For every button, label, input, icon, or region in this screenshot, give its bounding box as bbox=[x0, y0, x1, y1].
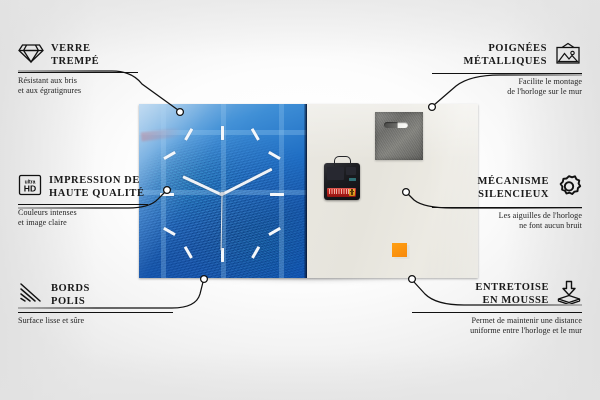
foam-spacer-arrow-icon bbox=[556, 280, 582, 309]
hour-mark bbox=[160, 193, 174, 196]
battery-plus-terminal bbox=[349, 189, 355, 196]
foam-spacer bbox=[392, 243, 407, 257]
ultra-hd-icon: ultra HD bbox=[18, 174, 42, 201]
feature-mecanisme-silencieux: MÉCANISME SILENCIEUX Les aiguilles de l'… bbox=[432, 174, 582, 231]
product-image bbox=[139, 104, 478, 278]
feature-bords-polis: BORDS POLIS Surface lisse et sûre bbox=[18, 282, 173, 326]
feature-description: Couleurs intenses et image claire bbox=[18, 208, 148, 228]
aa-battery bbox=[327, 188, 356, 197]
feature-title: MÉCANISME SILENCIEUX bbox=[478, 176, 549, 201]
feature-title: BORDS POLIS bbox=[51, 283, 90, 308]
feature-title: IMPRESSION DE HAUTE QUALITÉ bbox=[49, 175, 145, 200]
mechanism-hanger-loop bbox=[334, 156, 351, 166]
feature-title: VERRE TREMPÉ bbox=[51, 43, 99, 68]
svg-text:HD: HD bbox=[24, 184, 36, 194]
metal-hanger-plate bbox=[375, 112, 423, 160]
feature-title: POIGNÉES MÉTALLIQUES bbox=[464, 43, 547, 68]
picture-hanger-icon bbox=[554, 42, 582, 70]
feature-entretoise-en-mousse: ENTRETOISE EN MOUSSE Permet de maintenir… bbox=[412, 280, 582, 336]
feature-description: Les aiguilles de l'horloge ne font aucun… bbox=[432, 211, 582, 231]
divider bbox=[18, 72, 138, 73]
feature-verre-trempe: VERRE TREMPÉ Résistant aux bris et aux é… bbox=[18, 42, 138, 96]
mechanism-contact bbox=[349, 178, 356, 181]
polished-edge-icon bbox=[18, 282, 44, 309]
gear-icon bbox=[556, 174, 582, 204]
feature-description: Permet de maintenir une distance uniform… bbox=[412, 316, 582, 336]
divider bbox=[18, 204, 148, 205]
mechanism-detail bbox=[327, 167, 344, 180]
divider bbox=[412, 312, 582, 313]
feature-title: ENTRETOISE EN MOUSSE bbox=[475, 282, 549, 307]
feature-description: Surface lisse et sûre bbox=[18, 316, 173, 326]
feature-impression-haute-qualite: ultra HD IMPRESSION DE HAUTE QUALITÉ Cou… bbox=[18, 174, 148, 228]
hour-mark bbox=[221, 126, 224, 140]
divider bbox=[432, 207, 582, 208]
mechanism-detail bbox=[346, 167, 356, 175]
clock-mechanism-box bbox=[324, 163, 360, 200]
feature-description: Facilite le montage de l'horloge sur le … bbox=[432, 77, 582, 97]
feature-poignees-metalliques: POIGNÉES MÉTALLIQUES Facilite le montage… bbox=[432, 42, 582, 97]
divider bbox=[18, 312, 173, 313]
infographic-canvas: VERRE TREMPÉ Résistant aux bris et aux é… bbox=[0, 0, 600, 400]
hour-mark bbox=[270, 193, 284, 196]
clock-front-panel bbox=[139, 104, 307, 278]
feature-description: Résistant aux bris et aux égratignures bbox=[18, 76, 138, 96]
diamond-icon bbox=[18, 42, 44, 69]
metal-texture bbox=[375, 112, 423, 160]
clock-hub bbox=[220, 192, 224, 196]
divider bbox=[432, 73, 582, 74]
keyhole-slot bbox=[384, 122, 408, 128]
battery-label bbox=[329, 189, 349, 194]
